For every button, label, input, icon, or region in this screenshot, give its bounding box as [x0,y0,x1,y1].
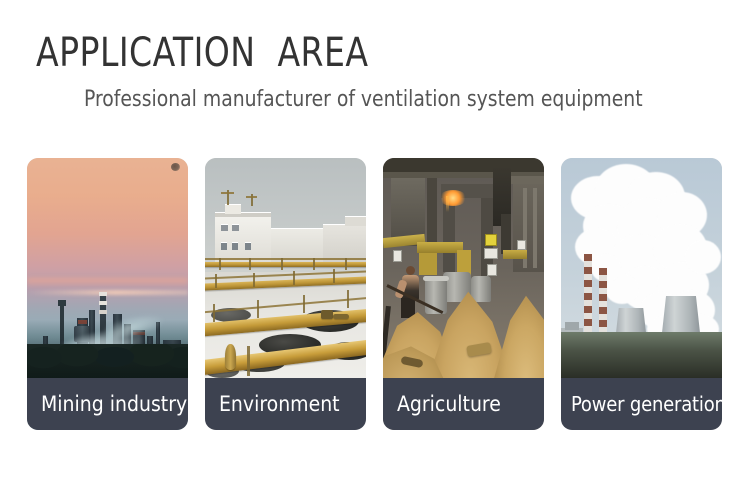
image-watermark-icon [171,163,180,171]
card-label-mining-industry: Mining industry [27,378,188,430]
application-card-grid: Mining industry [27,158,723,430]
application-card-mining-industry[interactable]: Mining industry [27,158,188,430]
card-label-power-generation: Power generation [561,378,722,430]
page-title: APPLICATION AREA [36,30,369,76]
card-label-agriculture: Agriculture [383,378,544,430]
application-card-environment[interactable]: Environment [205,158,366,430]
application-area-banner: APPLICATION AREA Professional manufactur… [0,0,750,500]
application-card-power-generation[interactable]: Power generation [561,158,722,430]
page-subtitle: Professional manufacturer of ventilation… [84,86,643,114]
card-label-environment: Environment [205,378,366,430]
application-card-agriculture[interactable]: Agriculture [383,158,544,430]
